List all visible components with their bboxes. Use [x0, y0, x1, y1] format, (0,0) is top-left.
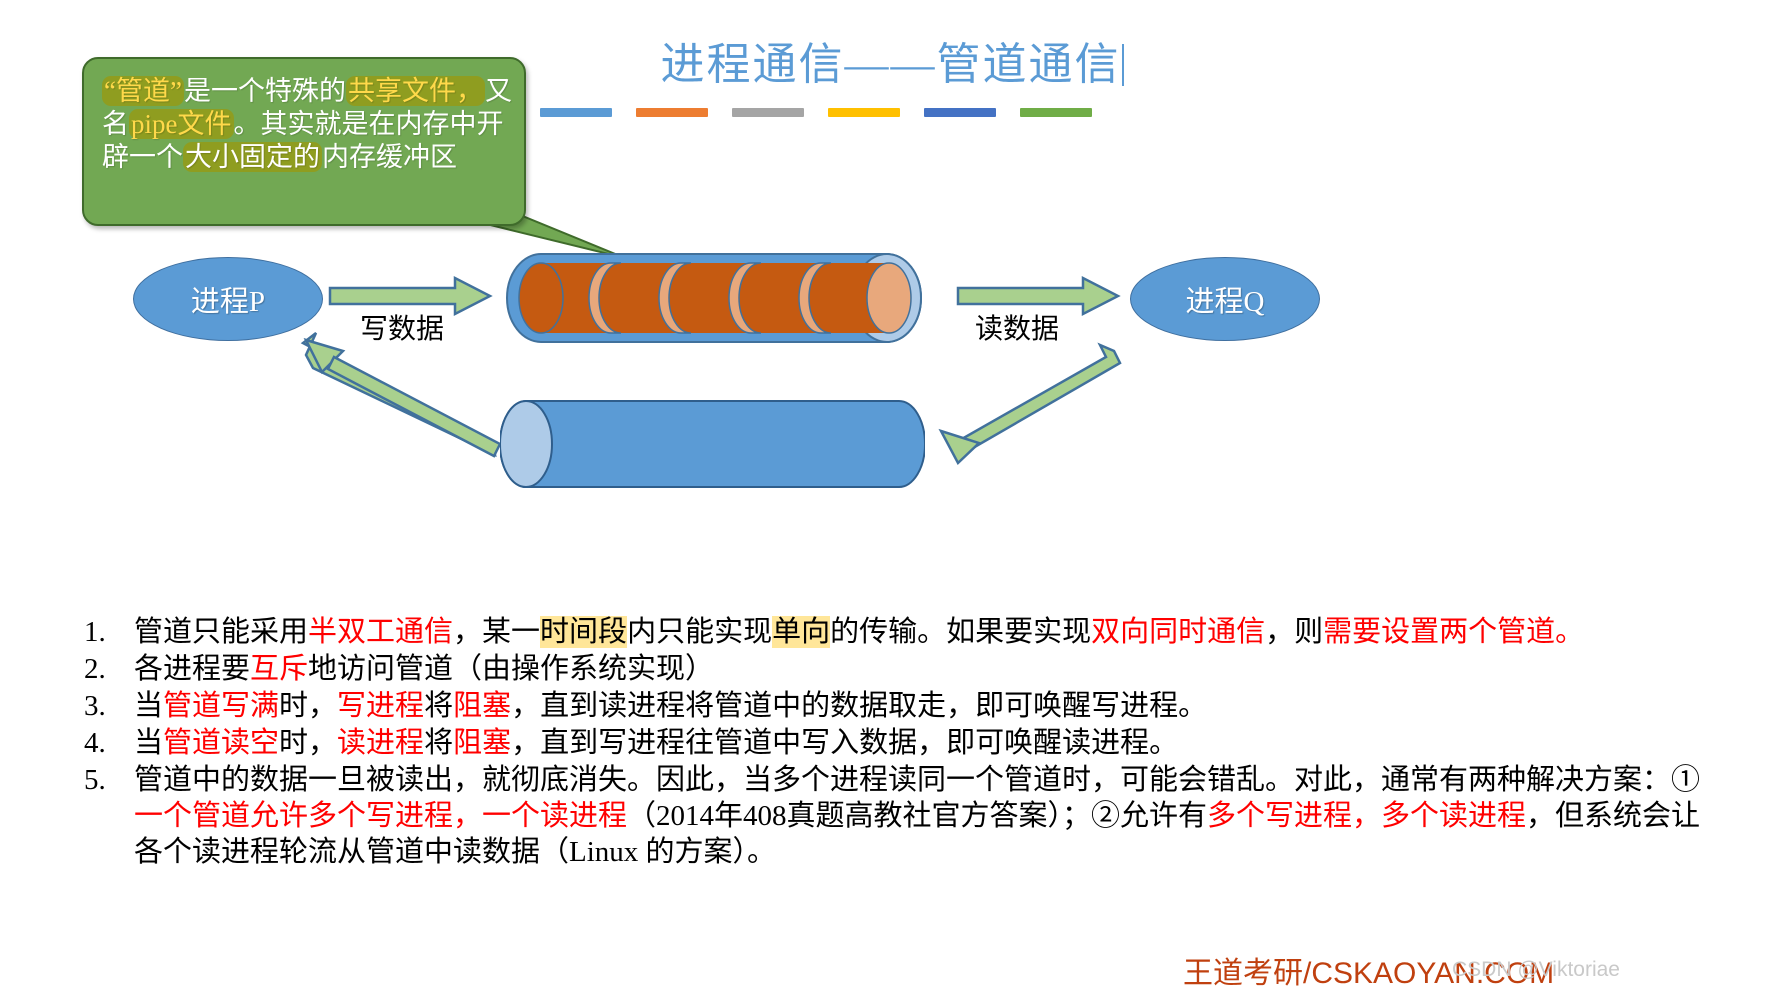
- callout-hl-4: 大小固定的: [183, 142, 322, 172]
- callout-hl-2: 共享文件，: [346, 76, 485, 106]
- seg-plain: （2014年408真题高教社官方答案）；②允许有: [627, 800, 1207, 832]
- arrow-return-left-icon: [303, 333, 500, 456]
- process-q-label: 进程Q: [1186, 278, 1265, 320]
- list-item: 1. 管道只能采用半双工通信，某一时间段内只能实现单向的传输。如果要实现双向同时…: [80, 614, 1720, 650]
- seg-red: 双向同时通信: [1091, 616, 1265, 648]
- decor-bar-orange: [636, 108, 708, 117]
- seg-plain: ，直到读进程将管道中的数据取走，即可唤醒写进程。: [511, 690, 1207, 722]
- seg-red: 管道读空: [163, 727, 279, 759]
- process-q-node: 进程Q: [1130, 257, 1320, 341]
- decor-bar-gray: [732, 108, 804, 117]
- seg-plain: 的传输。如果要实现: [830, 616, 1091, 648]
- seg-plain: 时，: [279, 690, 337, 722]
- notes-list: 1. 管道只能采用半双工通信，某一时间段内只能实现单向的传输。如果要实现双向同时…: [80, 614, 1720, 871]
- pipe-filled-cylinder-icon: [505, 252, 923, 344]
- seg-plain: ，某一: [453, 616, 540, 648]
- list-item-body: 当管道读空时，读进程将阻塞，直到写进程往管道中写入数据，即可唤醒读进程。: [134, 725, 1720, 761]
- seg-plain: 管道只能采用: [134, 616, 308, 648]
- seg-plain: ，直到写进程往管道中写入数据，即可唤醒读进程。: [511, 727, 1178, 759]
- seg-plain: 内只能实现: [627, 616, 772, 648]
- seg-red: 多个写进程，多个读进程: [1207, 800, 1526, 832]
- list-item-body: 各进程要互斥地访问管道（由操作系统实现）: [134, 651, 1720, 687]
- decor-bar-indigo: [924, 108, 996, 117]
- list-item-body: 当管道写满时，写进程将阻塞，直到读进程将管道中的数据取走，即可唤醒写进程。: [134, 688, 1720, 724]
- seg-plain: 将: [424, 727, 453, 759]
- seg-red: 阻塞: [453, 690, 511, 722]
- list-item-number: 5.: [80, 762, 134, 798]
- decor-bar-strip: [540, 108, 1092, 117]
- callout-plain-4: 内存缓冲区: [322, 142, 457, 172]
- list-item-number: 3.: [80, 688, 134, 724]
- list-item-number: 1.: [80, 614, 134, 650]
- text-cursor: [1122, 44, 1124, 86]
- callout-hl-1: “管道”: [102, 76, 184, 106]
- callout-bubble: “管道”是一个特殊的共享文件，又名pipe文件。其实就是在内存中开辟一个大小固定…: [82, 57, 526, 226]
- seg-red: 一个管道允许多个写进程，一个读进程: [134, 800, 627, 832]
- list-item: 2. 各进程要互斥地访问管道（由操作系统实现）: [80, 651, 1720, 687]
- callout-hl-3: pipe文件: [129, 109, 234, 139]
- list-item-number: 2.: [80, 651, 134, 687]
- pipe-empty-cylinder-icon: [500, 398, 925, 490]
- seg-red: 阻塞: [453, 727, 511, 759]
- seg-highlight: 单向: [772, 616, 830, 648]
- decor-bar-green: [1020, 108, 1092, 117]
- seg-red: 互斥: [250, 653, 308, 685]
- seg-highlight: 时间段: [540, 616, 627, 648]
- seg-red: 半双工通信: [308, 616, 453, 648]
- list-item: 3. 当管道写满时，写进程将阻塞，直到读进程将管道中的数据取走，即可唤醒写进程。: [80, 688, 1720, 724]
- callout-text: “管道”是一个特殊的共享文件，又名pipe文件。其实就是在内存中开辟一个大小固定…: [102, 75, 512, 174]
- seg-red: 管道写满: [163, 690, 279, 722]
- write-data-label: 写数据: [360, 307, 444, 347]
- arrow-return-right-icon: [941, 345, 1120, 463]
- process-p-label: 进程P: [191, 278, 265, 320]
- list-item: 4. 当管道读空时，读进程将阻塞，直到写进程往管道中写入数据，即可唤醒读进程。: [80, 725, 1720, 761]
- seg-plain: 管道中的数据一旦被读出，就彻底消失。因此，当多个进程读同一个管道时，可能会错乱。…: [134, 764, 1700, 796]
- watermark-label: CSDN @Viktoriae: [1452, 958, 1620, 982]
- callout-plain-1: 是一个特殊的: [184, 76, 346, 106]
- list-item: 5. 管道中的数据一旦被读出，就彻底消失。因此，当多个进程读同一个管道时，可能会…: [80, 762, 1720, 870]
- page-title-text: 进程通信——管道通信: [661, 40, 1121, 89]
- seg-plain: 各进程要: [134, 653, 250, 685]
- seg-plain: 。: [1555, 616, 1584, 648]
- list-item-number: 4.: [80, 725, 134, 761]
- list-item-body: 管道中的数据一旦被读出，就彻底消失。因此，当多个进程读同一个管道时，可能会错乱。…: [134, 762, 1720, 870]
- list-item-body: 管道只能采用半双工通信，某一时间段内只能实现单向的传输。如果要实现双向同时通信，…: [134, 614, 1720, 650]
- process-p-node: 进程P: [133, 257, 323, 341]
- read-data-label: 读数据: [975, 307, 1059, 347]
- seg-red: 写进程: [337, 690, 424, 722]
- seg-red: 需要设置两个管道: [1323, 616, 1555, 648]
- slide-root: 进程通信——管道通信 “管道”是一个特殊的共享文件，又名pipe文件。其实就是在…: [0, 0, 1784, 996]
- seg-plain: 将: [424, 690, 453, 722]
- seg-plain: 当: [134, 690, 163, 722]
- seg-plain: 时，: [279, 727, 337, 759]
- seg-plain: 地访问管道（由操作系统实现）: [308, 653, 714, 685]
- seg-plain: 当: [134, 727, 163, 759]
- decor-bar-yellow: [828, 108, 900, 117]
- seg-plain: ，则: [1265, 616, 1323, 648]
- seg-red: 读进程: [337, 727, 424, 759]
- decor-bar-blue: [540, 108, 612, 117]
